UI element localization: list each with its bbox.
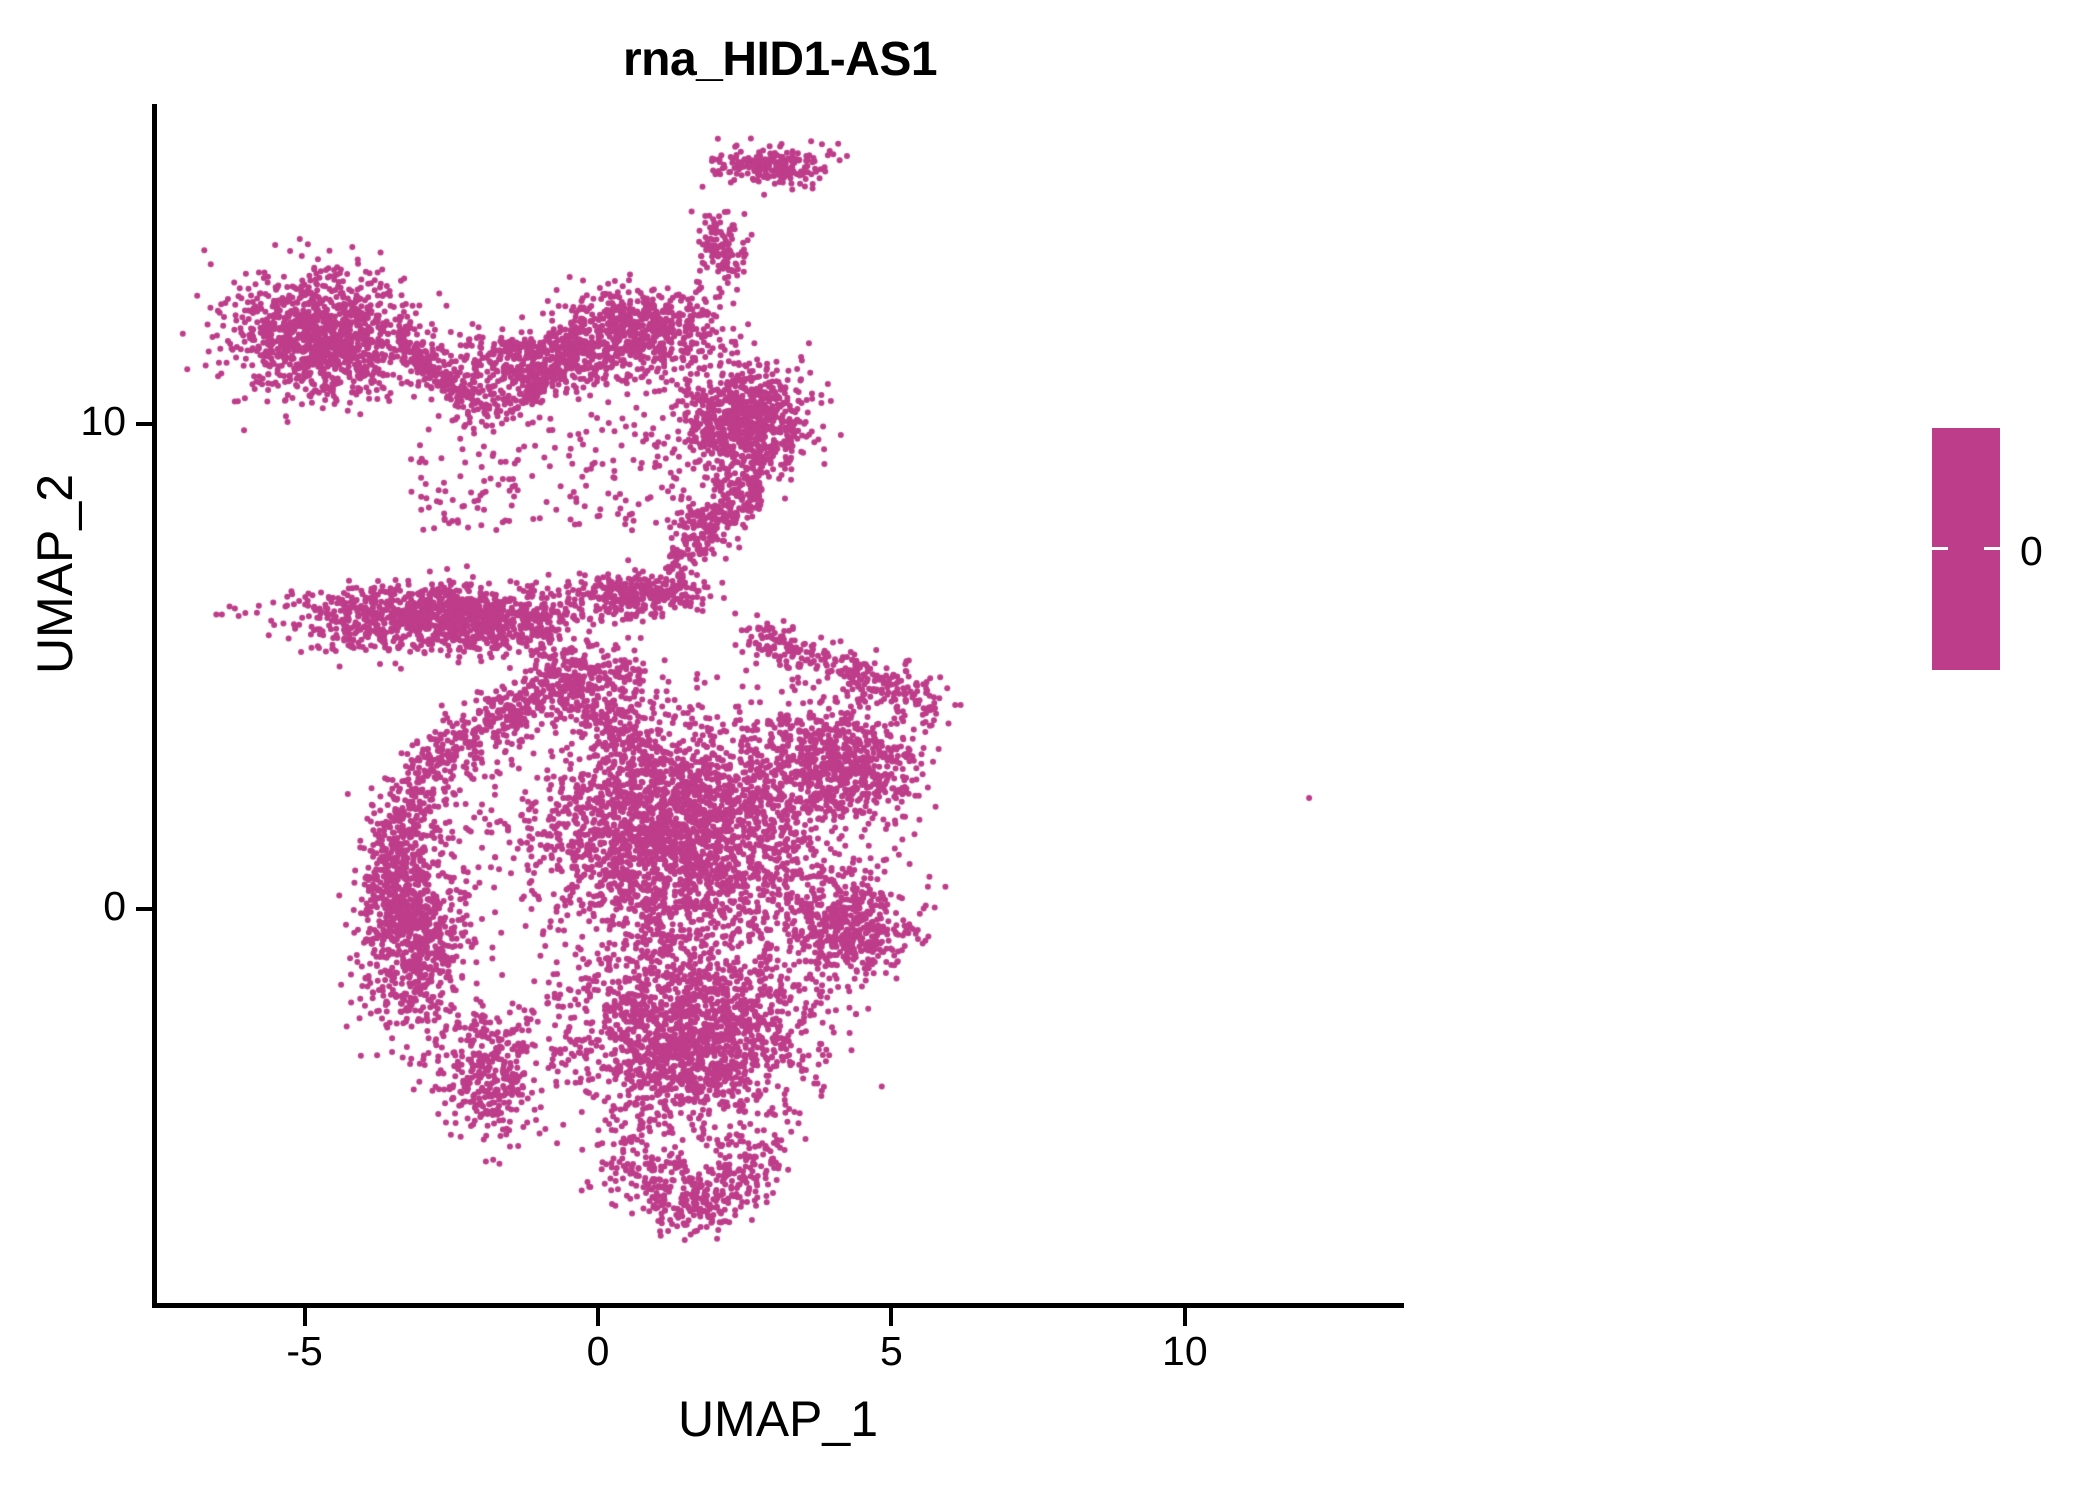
y-axis-label: UMAP_2 — [26, 314, 84, 834]
scatter-points-layer — [152, 104, 1402, 1306]
colorbar-tick-label: 0 — [2020, 528, 2043, 575]
x-tick-mark — [303, 1308, 307, 1326]
colorbar-tick-right — [1984, 547, 2000, 550]
x-tick-label: 10 — [1162, 1328, 1208, 1375]
x-tick-label: 5 — [880, 1328, 903, 1375]
colorbar-tick-left — [1932, 547, 1948, 550]
y-tick-label: 0 — [0, 883, 126, 930]
x-tick-mark — [1183, 1308, 1187, 1326]
x-axis-label: UMAP_1 — [152, 1390, 1404, 1448]
x-tick-label: -5 — [286, 1328, 322, 1375]
x-tick-mark — [889, 1308, 893, 1326]
scatter-canvas — [0, 0, 2100, 1500]
x-tick-mark — [596, 1308, 600, 1326]
umap-scatter-figure: rna_HID1-AS1 010 -50510 UMAP_2 UMAP_1 0 — [0, 0, 2100, 1500]
y-tick-mark — [136, 907, 152, 911]
y-tick-mark — [136, 422, 152, 426]
x-tick-label: 0 — [587, 1328, 610, 1375]
colorbar-gradient — [1932, 428, 2000, 670]
plot-panel — [152, 104, 1402, 1306]
